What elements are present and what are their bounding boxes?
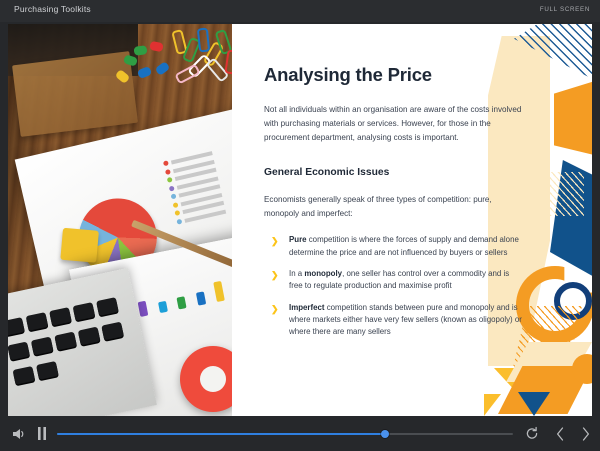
navy-triangle-shape: [518, 392, 550, 416]
player-controls-bar: [0, 416, 600, 451]
slide-photo: [8, 24, 232, 416]
slide-stage: Analysing the Price Not all individuals …: [8, 24, 592, 416]
next-slide-button[interactable]: [578, 426, 592, 442]
replay-button[interactable]: [524, 426, 539, 441]
list-item: ❯In a monopoly, one seller has control o…: [264, 268, 522, 293]
cream-diagonal-stripes: [550, 172, 584, 216]
player-header: Purchasing Toolkits FULL SCREEN: [0, 0, 600, 22]
volume-button[interactable]: [11, 426, 27, 442]
bullet-term: Pure: [289, 235, 307, 244]
competition-types-list: ❯Pure competition is where the forces of…: [264, 234, 522, 338]
chevron-right-icon: ❯: [271, 268, 279, 282]
pause-button[interactable]: [35, 426, 49, 442]
bullet-lead-in: In a: [289, 269, 304, 278]
slide-content-panel: Analysing the Price Not all individuals …: [232, 24, 592, 416]
previous-slide-button[interactable]: [553, 426, 567, 442]
slide-title: Analysing the Price: [264, 64, 522, 86]
course-player: Purchasing Toolkits FULL SCREEN: [0, 0, 600, 451]
slide-intro-paragraph: Not all individuals within an organisati…: [264, 103, 522, 145]
bullet-text: competition is where the forces of suppl…: [289, 235, 519, 256]
bullet-text: competition stands between pure and mono…: [289, 303, 522, 337]
pie-chart-legend: [171, 151, 227, 227]
pie-exploded-slice: [60, 228, 99, 263]
chevron-right-icon: ❯: [271, 234, 279, 248]
pins-and-clips-cluster: [94, 24, 232, 110]
section-heading: General Economic Issues: [264, 167, 522, 178]
progress-fill: [57, 433, 385, 435]
bullet-term: monopoly: [304, 269, 342, 278]
list-item: ❯Pure competition is where the forces of…: [264, 234, 522, 259]
yellow-triangle-shape: [484, 394, 501, 416]
bullet-term: Imperfect: [289, 303, 325, 312]
orange-block-shape: [554, 80, 592, 156]
progress-handle[interactable]: [381, 430, 389, 438]
fullscreen-button[interactable]: FULL SCREEN: [540, 6, 590, 13]
chevron-right-icon: ❯: [271, 302, 279, 316]
slide-text-block: Analysing the Price Not all individuals …: [264, 64, 522, 348]
list-item: ❯Imperfect competition stands between pu…: [264, 302, 522, 339]
progress-slider[interactable]: [57, 428, 513, 440]
course-title: Purchasing Toolkits: [14, 4, 91, 14]
keyboard-keys: [8, 293, 149, 394]
section-lead-paragraph: Economists generally speak of three type…: [264, 193, 522, 221]
progress-track[interactable]: [57, 433, 513, 435]
